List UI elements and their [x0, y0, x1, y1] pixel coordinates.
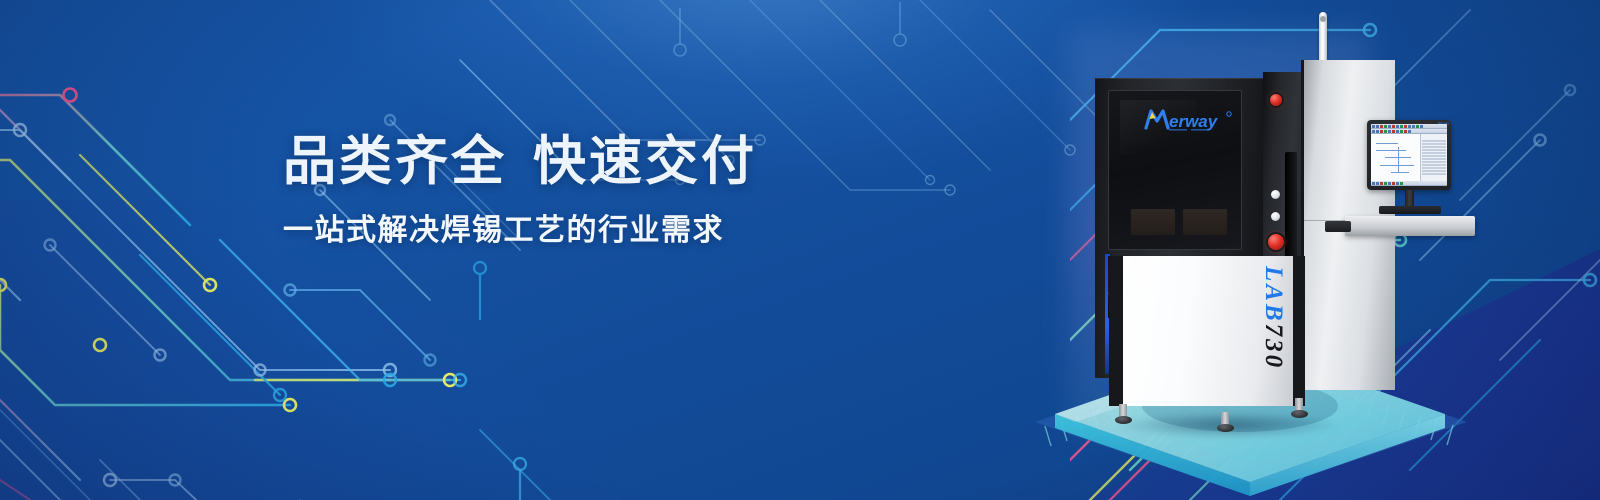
window-slot-right [1183, 209, 1227, 235]
software-data-panel: Merway [1421, 134, 1447, 181]
monitor-software-ui: Merway [1371, 124, 1447, 186]
model-number: 730 [1260, 324, 1287, 371]
headline-part-2: 快速交付 [533, 132, 757, 191]
svg-text:erway: erway [1169, 112, 1219, 131]
hero-copy-block: 品类齐全快速交付 一站式解决焊锡工艺的行业需求 [283, 134, 843, 249]
software-brand-mark: Merway [1438, 124, 1447, 125]
machine-foot-left [1115, 404, 1132, 424]
emergency-stop-top-button[interactable] [1270, 94, 1282, 106]
software-workspace: Merway [1371, 134, 1447, 181]
monitor-screen[interactable]: Merway [1367, 120, 1451, 190]
model-badge: LAB730 [1259, 266, 1287, 370]
lab730-machine: erway [1095, 20, 1395, 420]
page-title: 品类齐全快速交付 [283, 134, 843, 190]
lower-body-panel: LAB730 [1109, 256, 1305, 406]
status-lamp-1[interactable] [1271, 190, 1280, 199]
keyboard-shelf [1345, 216, 1475, 236]
page-subtitle: 一站式解决焊锡工艺的行业需求 [283, 205, 843, 249]
inspection-window: erway [1108, 90, 1242, 250]
software-statusbar [1371, 181, 1447, 186]
monitor-base [1379, 206, 1441, 214]
model-prefix: LAB [1260, 266, 1287, 324]
machine-foot-right [1291, 398, 1308, 418]
product-hero-banner: 品类齐全快速交付 一站式解决焊锡工艺的行业需求 [0, 0, 1600, 500]
status-lamp-2[interactable] [1271, 212, 1280, 221]
headline-part-1: 品类齐全 [283, 132, 507, 191]
machine-foot-center [1217, 412, 1234, 432]
software-canvas [1371, 134, 1421, 181]
emergency-stop-main-button[interactable] [1268, 234, 1284, 250]
merway-logo: erway [1143, 107, 1235, 133]
operator-monitor[interactable]: Merway [1367, 120, 1459, 224]
product-scene: erway [1035, 0, 1505, 500]
window-slot-left [1131, 209, 1175, 235]
